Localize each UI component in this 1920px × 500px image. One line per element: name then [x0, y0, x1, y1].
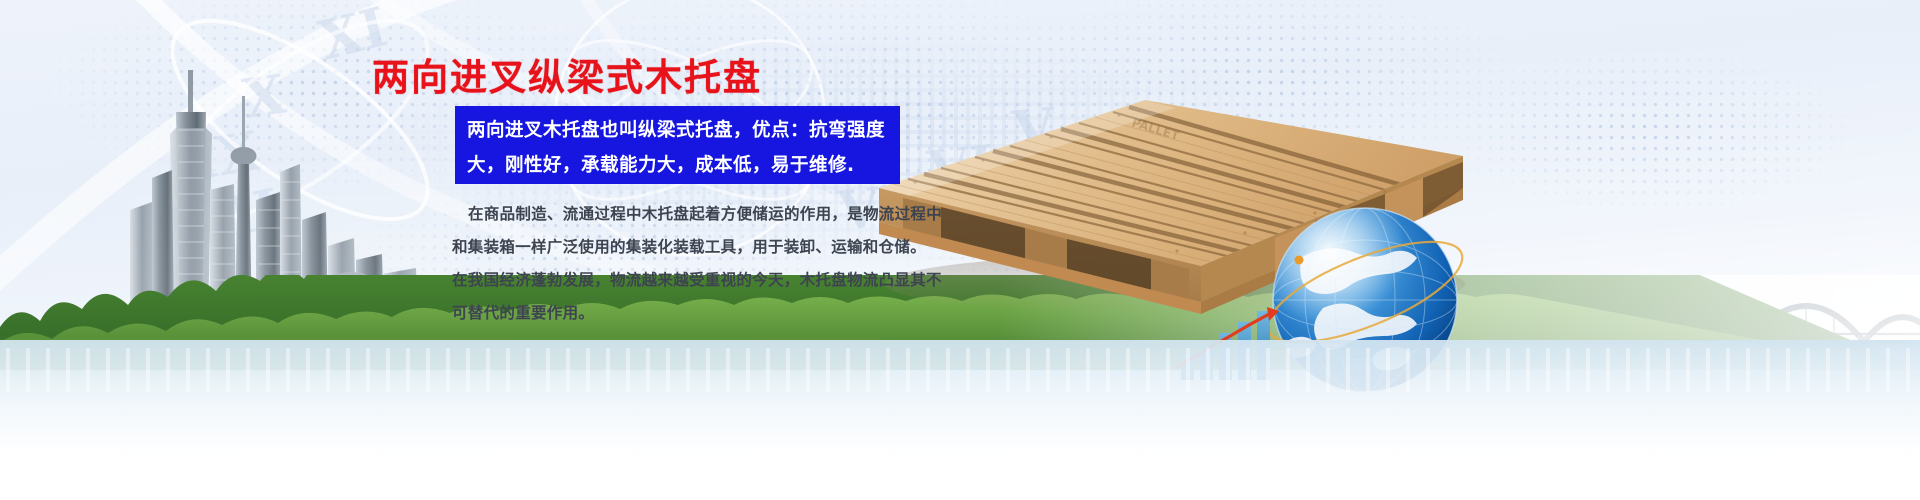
body-line-3: 在我国经济蓬勃发展，物流越来越受重视的今天，木托盘物流凸显其不: [452, 264, 972, 297]
product-banner: VIII X IX VII VI V XI: [0, 0, 1920, 500]
body-line-4: 可替代的重要作用。: [452, 297, 972, 330]
body-line-2: 和集装箱一样广泛使用的集装化装载工具，用于装卸、运输和仓储。: [452, 231, 972, 264]
highlight-line-2: 大，刚性好，承载能力大，成本低，易于维修.: [467, 148, 890, 183]
banner-headline: 两向进叉纵梁式木托盘: [372, 55, 892, 103]
banner-body-paragraph: 在商品制造、流通过程中木托盘起着方便储运的作用，是物流过程中 和集装箱一样广泛使…: [452, 198, 972, 330]
water-glint: [0, 348, 1920, 392]
highlight-callout-box: 两向进叉木托盘也叫纵梁式托盘，优点：抗弯强度 大，刚性好，承载能力大，成本低，易…: [455, 106, 900, 184]
body-line-1: 在商品制造、流通过程中木托盘起着方便储运的作用，是物流过程中: [452, 198, 972, 231]
highlight-line-1: 两向进叉木托盘也叫纵梁式托盘，优点：抗弯强度: [467, 113, 890, 148]
